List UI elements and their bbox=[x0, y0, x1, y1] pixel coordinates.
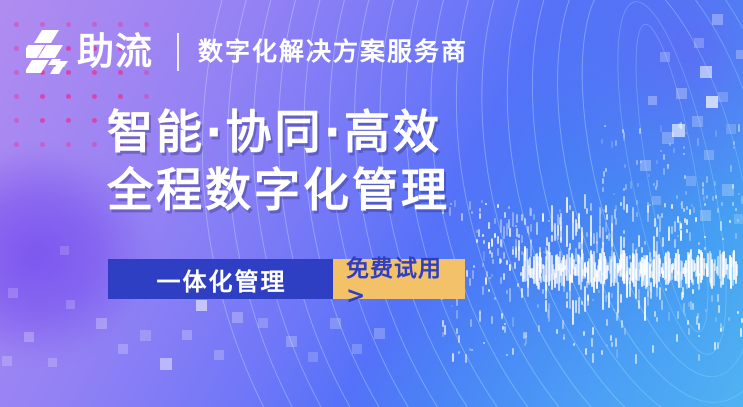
brand-lockup: 助流 数字化解决方案服务商 bbox=[26, 27, 468, 77]
brand-tagline: 数字化解决方案服务商 bbox=[198, 33, 468, 71]
headline-line-1: 智能·协同·高效 bbox=[107, 105, 442, 159]
cta-row: 一体化管理 免费试用> bbox=[108, 259, 465, 299]
cta-label-bar: 一体化管理 bbox=[108, 259, 333, 299]
brand-divider bbox=[177, 33, 179, 71]
banner-content: 助流 数字化解决方案服务商 智能·协同·高效 全程数字化管理 一体化管理 免费试… bbox=[0, 0, 743, 407]
promo-banner: 助流 数字化解决方案服务商 智能·协同·高效 全程数字化管理 一体化管理 免费试… bbox=[0, 0, 743, 407]
headline-line-2: 全程数字化管理 bbox=[107, 161, 450, 219]
page-title: 智能·协同·高效 全程数字化管理 bbox=[107, 103, 450, 219]
free-trial-button[interactable]: 免费试用> bbox=[333, 259, 465, 299]
lightning-bolt-logo-icon bbox=[26, 28, 70, 76]
brand-name: 助流 bbox=[77, 29, 153, 75]
